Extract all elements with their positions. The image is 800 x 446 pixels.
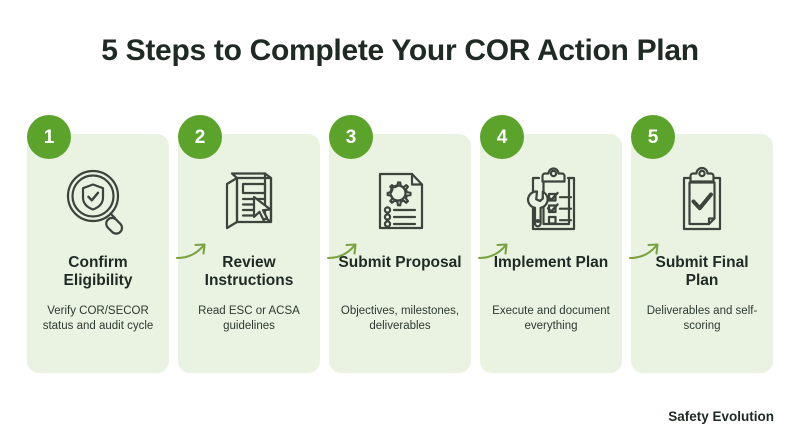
clipboard-checkmark-icon: [631, 160, 773, 242]
step-card-1[interactable]: 1 Confirm Eligibility Verify COR/SECOR s…: [27, 134, 169, 373]
curved-arrow-right-icon: [175, 237, 211, 263]
step-title-1: Confirm Eligibility: [33, 254, 163, 291]
step-number-badge-1: 1: [27, 115, 71, 159]
step-number-badge-5: 5: [631, 115, 675, 159]
book-cursor-icon: [178, 160, 320, 242]
document-gear-list-icon: [329, 160, 471, 242]
curved-arrow-right-icon: [628, 237, 664, 263]
step-number-badge-2: 2: [178, 115, 222, 159]
curved-arrow-right-icon: [477, 237, 513, 263]
step-description-3: Objectives, milestones, deliverables: [334, 304, 466, 335]
step-description-2: Read ESC or ACSA guidelines: [183, 304, 315, 335]
curved-arrow-right-icon: [326, 237, 362, 263]
steps-row: 1 Confirm Eligibility Verify COR/SECOR s…: [27, 134, 773, 373]
step-description-1: Verify COR/SECOR status and audit cycle: [32, 304, 164, 335]
step-number-badge-3: 3: [329, 115, 373, 159]
page-title: 5 Steps to Complete Your COR Action Plan: [0, 34, 800, 67]
step-number-badge-4: 4: [480, 115, 524, 159]
clipboard-wrench-checklist-icon: [480, 160, 622, 242]
magnifier-shield-check-icon: [27, 160, 169, 242]
brand-label: Safety Evolution: [668, 409, 774, 424]
step-description-5: Deliverables and self-scoring: [636, 304, 768, 335]
step-description-4: Execute and document everything: [485, 304, 617, 335]
